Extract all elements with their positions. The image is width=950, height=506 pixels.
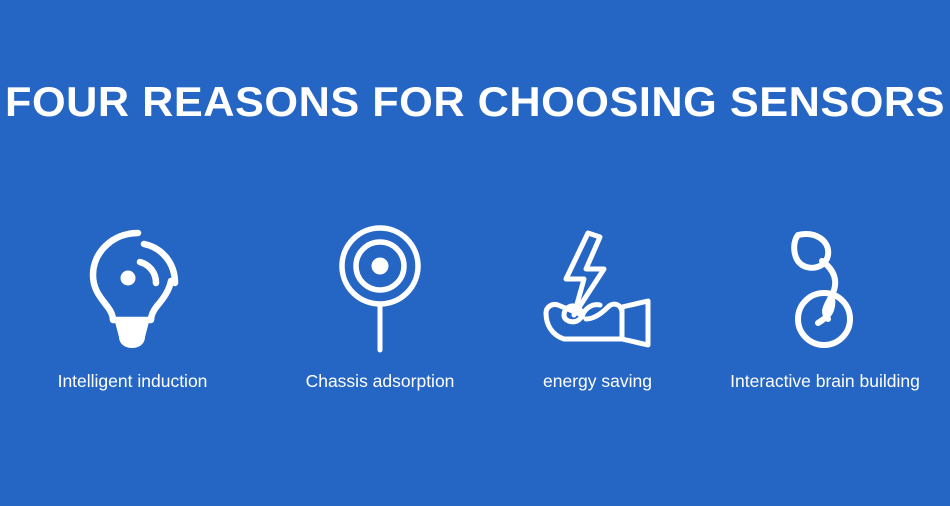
feature-label: Chassis adsorption	[306, 370, 455, 392]
feature-label: Intelligent induction	[58, 370, 208, 392]
feature-label: energy saving	[543, 370, 652, 392]
feature-item-intelligent-induction: Intelligent induction	[0, 215, 265, 392]
feature-list: Intelligent induction Chassis adsorption	[0, 215, 950, 392]
feature-label: Interactive brain building	[730, 370, 920, 392]
lightbulb-wifi-icon	[85, 215, 181, 360]
page-title: FOUR REASONS FOR CHOOSING SENSORS	[0, 80, 950, 124]
promo-banner: FOUR REASONS FOR CHOOSING SENSORS Int	[0, 0, 950, 506]
feature-item-interactive-brain-building: Interactive brain building	[700, 215, 950, 392]
sprout-leaf-circle-icon	[788, 215, 862, 360]
feature-item-chassis-adsorption: Chassis adsorption	[265, 215, 495, 392]
hand-lightning-bolt-icon	[542, 215, 654, 360]
feature-item-energy-saving: energy saving	[495, 215, 700, 392]
bullseye-target-pin-icon	[337, 215, 423, 360]
